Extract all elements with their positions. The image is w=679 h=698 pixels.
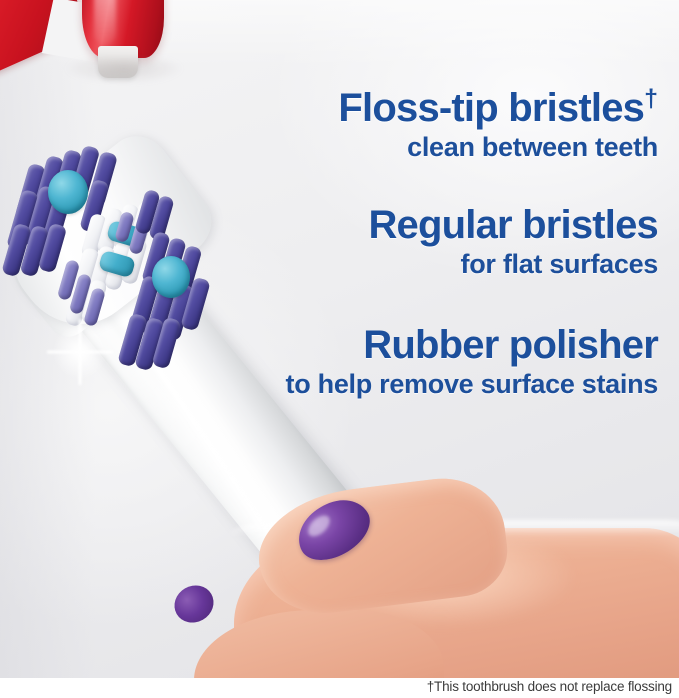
hand-graphic bbox=[228, 468, 679, 698]
feature-headline-text: Floss-tip bristles bbox=[338, 86, 644, 130]
feature-block-floss-tip: Floss-tip bristles† clean between teeth bbox=[338, 88, 658, 162]
thumbnail-polish bbox=[288, 489, 380, 571]
footnote-dagger-marker: † bbox=[644, 85, 658, 113]
footnote-text: †This toothbrush does not replace flossi… bbox=[427, 679, 672, 694]
feature-headline: Rubber polisher bbox=[286, 325, 658, 366]
rubber-polisher-dot bbox=[48, 170, 88, 214]
feature-headline-text: Regular bristles bbox=[368, 203, 658, 247]
feature-block-regular-bristles: Regular bristles for flat surfaces bbox=[368, 205, 658, 279]
package-tube-highlight bbox=[94, 0, 116, 44]
package-shadow bbox=[64, 58, 184, 84]
product-feature-image: Floss-tip bristles† clean between teeth … bbox=[0, 0, 679, 698]
feature-headline-text: Rubber polisher bbox=[363, 323, 658, 367]
feature-headline: Regular bristles bbox=[368, 205, 658, 246]
feature-subline: clean between teeth bbox=[338, 132, 658, 162]
feature-subline: to help remove surface stains bbox=[286, 369, 658, 399]
feature-subline: for flat surfaces bbox=[368, 249, 658, 279]
rubber-polisher-dot bbox=[152, 256, 190, 298]
feature-headline: Floss-tip bristles† bbox=[338, 88, 658, 129]
feature-block-rubber-polisher: Rubber polisher to help remove surface s… bbox=[286, 325, 658, 399]
toothpaste-package-graphic bbox=[0, 0, 204, 96]
